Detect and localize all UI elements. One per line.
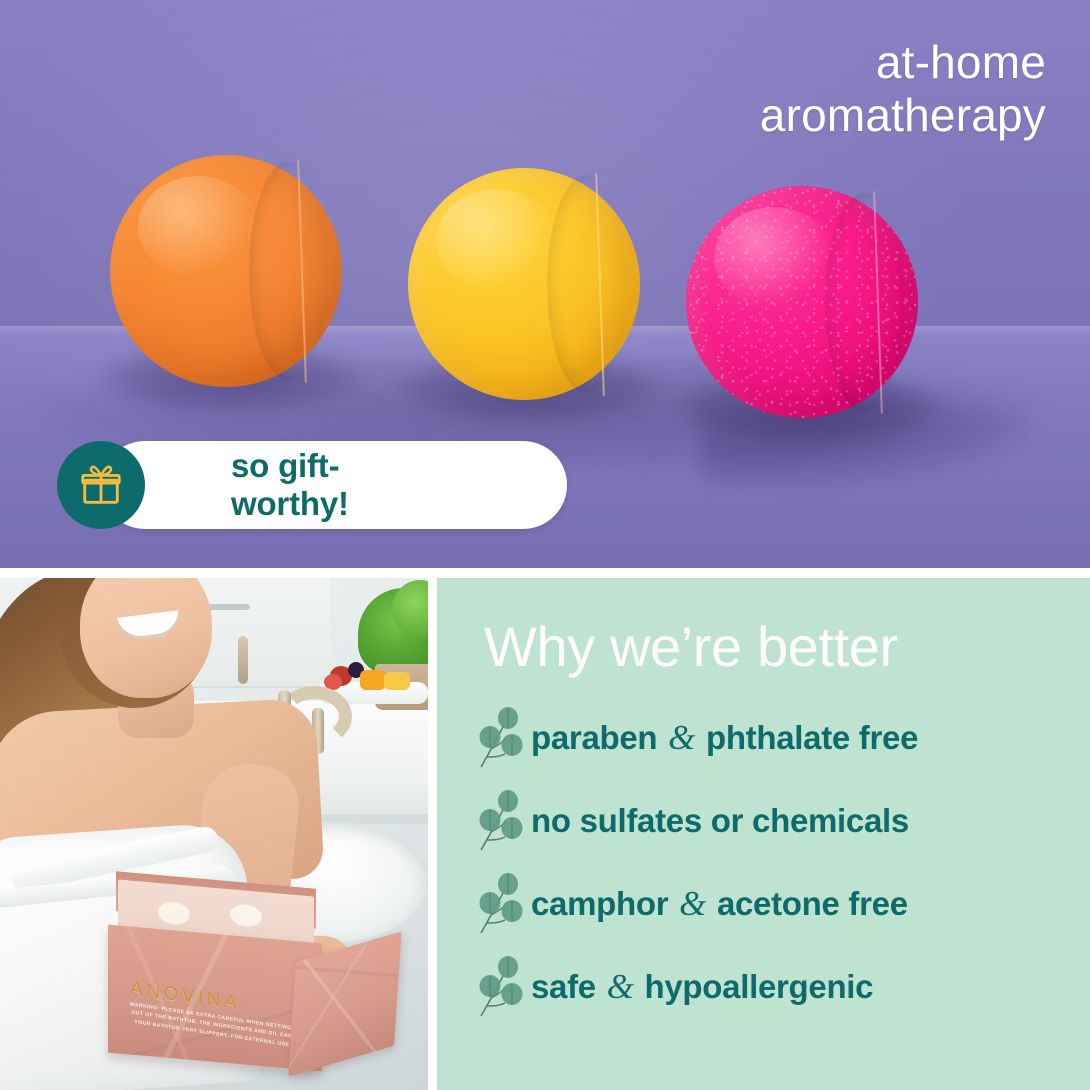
benefits-panel: Why we’re better paraben & phthalate fre… <box>437 578 1090 1090</box>
product-infographic: at-home aromatherapy so gift-worthy! <box>0 0 1090 1090</box>
gift-box: ANOVINA WARNING: PLEASE BE EXTRA CAREFUL… <box>96 862 396 1077</box>
paper-filler <box>230 903 262 928</box>
highlight <box>714 207 835 309</box>
benefit-item: camphor & acetone free <box>471 862 1081 945</box>
gift-icon <box>78 462 124 508</box>
seam-shade <box>547 175 626 393</box>
headline-line-2: aromatherapy <box>760 89 1046 142</box>
benefit-item: paraben & phthalate free <box>471 696 1081 779</box>
fruit-slice <box>384 672 410 690</box>
highlight <box>138 176 259 278</box>
benefit-text: camphor & acetone free <box>531 884 908 924</box>
ampersand: & <box>666 718 697 757</box>
headline-line-1: at-home <box>760 36 1046 89</box>
cabinet-handle <box>238 636 248 684</box>
hero-headline: at-home aromatherapy <box>760 36 1046 143</box>
benefits-list: paraben & phthalate free no sulfates or … <box>471 696 1081 1028</box>
eucalyptus-sprig-icon <box>471 871 527 937</box>
seam-shade <box>825 193 904 411</box>
benefit-text-post: acetone free <box>708 885 908 922</box>
badge-label: so gift-worthy! <box>231 441 349 529</box>
pink-bath-bomb <box>686 186 918 418</box>
fruit-slice <box>360 670 386 690</box>
seam-shade <box>249 162 328 380</box>
eucalyptus-sprig-icon <box>471 788 527 854</box>
eucalyptus-sprig-icon <box>471 954 527 1020</box>
benefit-text: no sulfates or chemicals <box>531 801 913 841</box>
hero-panel: at-home aromatherapy so gift-worthy! <box>0 0 1090 568</box>
benefit-item: safe & hypoallergenic <box>471 945 1081 1028</box>
yellow-bath-bomb <box>408 168 640 400</box>
benefit-text-pre: paraben <box>531 719 666 756</box>
benefit-text-pre: no sulfates or chemicals <box>531 802 909 839</box>
benefit-text-post: hypoallergenic <box>636 968 874 1005</box>
benefit-text: paraben & phthalate free <box>531 718 918 758</box>
ampersand: & <box>605 967 636 1006</box>
benefit-item: no sulfates or chemicals <box>471 779 1081 862</box>
orange-bath-bomb <box>110 155 342 387</box>
ampersand <box>909 801 913 840</box>
benefits-title: Why we’re better <box>484 614 898 679</box>
benefit-text-pre: camphor <box>531 885 677 922</box>
ampersand: & <box>677 884 708 923</box>
benefit-text-pre: safe <box>531 968 605 1005</box>
badge-icon-circle <box>57 441 145 529</box>
paper-filler <box>158 901 190 926</box>
benefit-text: safe & hypoallergenic <box>531 967 873 1007</box>
benefit-text-post: phthalate free <box>697 719 918 756</box>
highlight <box>436 189 557 291</box>
eucalyptus-sprig-icon <box>471 705 527 771</box>
